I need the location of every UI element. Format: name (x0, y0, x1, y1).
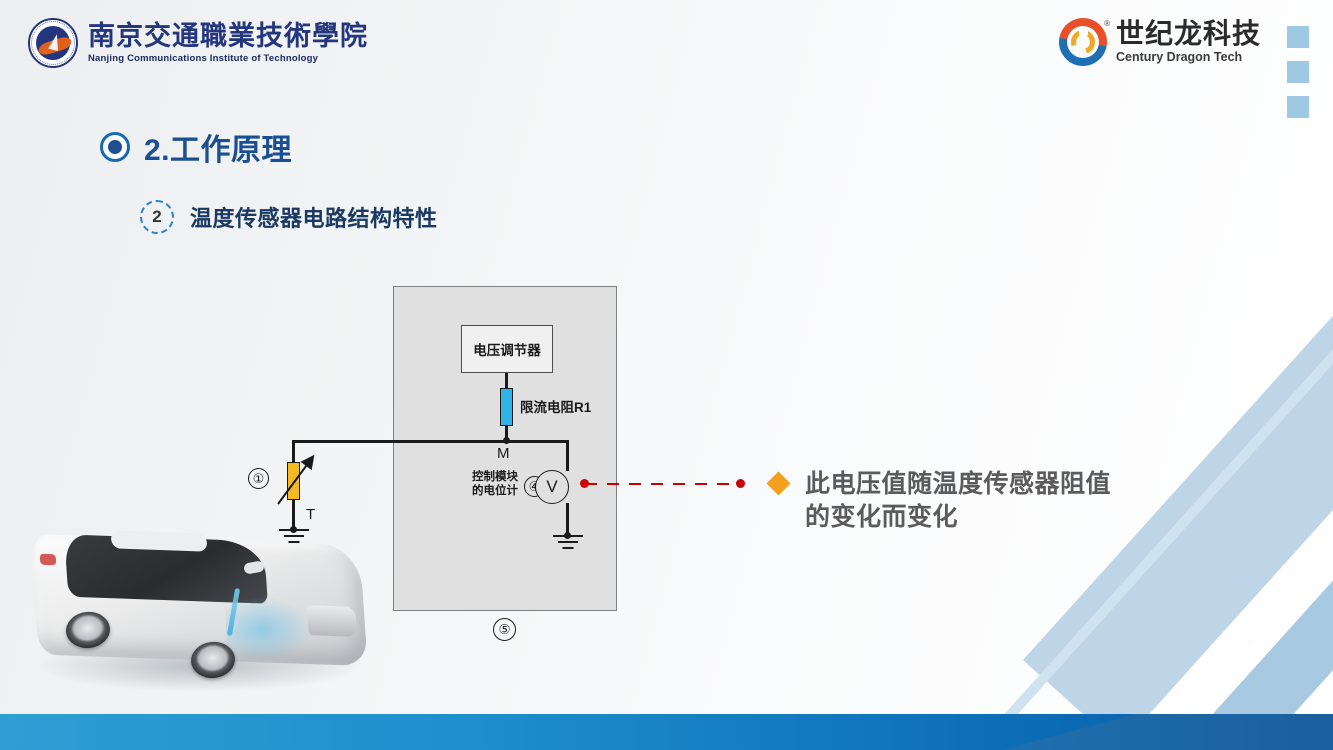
voltage-regulator-box: 电压调节器 (461, 325, 553, 373)
company-name-cn: 世纪龙科技 (1116, 20, 1261, 48)
section-subtitle: 2 温度传感器电路结构特性 (140, 200, 438, 234)
voltage-regulator-label: 电压调节器 (473, 339, 541, 359)
footer-bar (0, 714, 1333, 750)
page-title: 2.工作原理 (100, 125, 292, 169)
resistor-r1-label: 限流电阻R1 (520, 396, 591, 416)
current-limit-resistor-r1 (500, 388, 513, 426)
company-name-en: Century Dragon Tech (1116, 51, 1261, 64)
thermistor-label: T (306, 506, 315, 523)
subtitle-number: 2 (152, 207, 161, 227)
potentiometer-label: 控制模块 的电位计 (472, 470, 518, 499)
voltmeter-symbol: V (535, 470, 569, 504)
registered-mark: ® (1104, 19, 1110, 28)
ground-node-dot-ecu (564, 532, 571, 539)
century-dragon-swirl-icon: ® (1059, 18, 1107, 66)
wire-to-voltmeter (566, 440, 569, 471)
subtitle-text: 温度传感器电路结构特性 (190, 201, 438, 233)
university-seal-icon (28, 18, 78, 68)
marker-1: ① (248, 468, 269, 489)
subtitle-number-badge: 2 (140, 200, 174, 234)
wire-horizontal-bus (292, 440, 568, 443)
university-name-en: Nanjing Communications Institute of Tech… (88, 54, 368, 64)
callout-connector-line (585, 483, 740, 485)
decor-square-1 (1285, 24, 1311, 50)
node-m-label: M (497, 445, 510, 462)
bullseye-icon (100, 132, 130, 162)
company-logo: ® 世纪龙科技 Century Dragon Tech (1059, 18, 1261, 66)
decor-square-stack (1285, 24, 1311, 120)
callout-connector-dot-right (736, 479, 745, 488)
node-m-dot (503, 437, 510, 444)
circuit-diagram: 电压调节器 限流电阻R1 M 控制模块 的电位计 ④ V (256, 282, 816, 652)
university-name-cn: 南京交通職業技術學院 (88, 23, 368, 50)
presentation-slide: 南京交通職業技術學院 Nanjing Communications Instit… (0, 0, 1333, 750)
variable-resistor-arrow-icon (272, 452, 324, 510)
decor-square-2 (1285, 59, 1311, 85)
decor-square-3 (1285, 94, 1311, 120)
marker-5: ⑤ (493, 618, 516, 641)
ground-node-dot-thermistor (290, 526, 297, 533)
callout-text: 此电压值随温度传感器阻值 的变化而变化 (805, 468, 1111, 534)
university-logo: 南京交通職業技術學院 Nanjing Communications Instit… (28, 18, 368, 68)
page-title-text: 2.工作原理 (144, 125, 292, 169)
callout-connector-dot-left (580, 479, 589, 488)
footer-bar-accent (1003, 714, 1333, 750)
diamond-bullet-icon (766, 471, 790, 495)
wire-regulator-to-r1 (505, 373, 508, 389)
callout-note: 此电压值随温度传感器阻值 的变化而变化 (770, 468, 1111, 534)
slide-header: 南京交通職業技術學院 Nanjing Communications Instit… (0, 0, 1333, 86)
